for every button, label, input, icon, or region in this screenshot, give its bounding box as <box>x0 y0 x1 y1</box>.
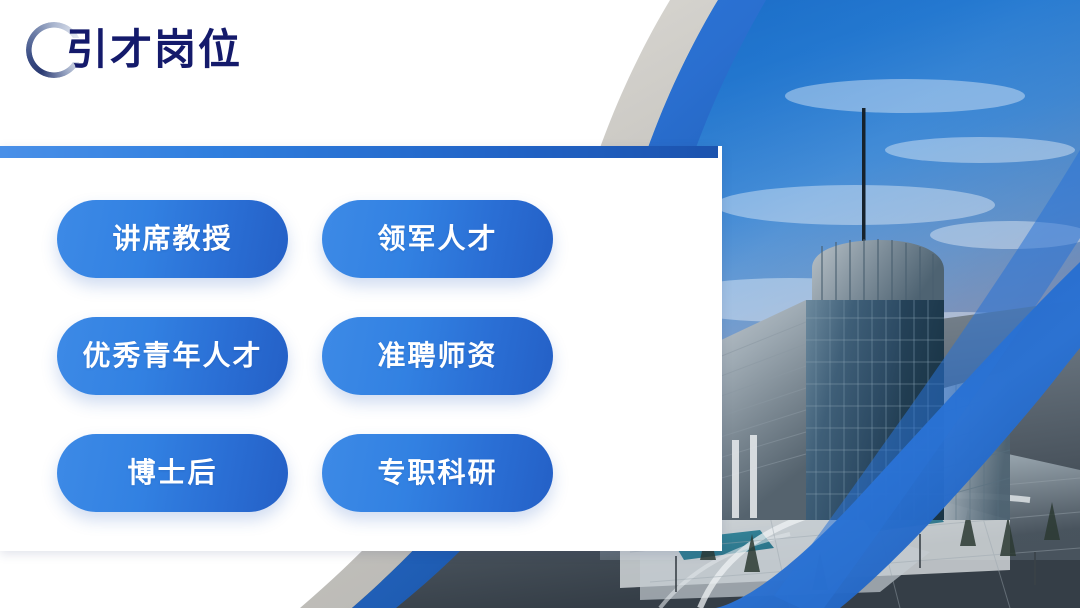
brand-lockup: 引才岗位 <box>26 18 242 82</box>
position-tag-postdoc[interactable]: 博士后 <box>57 434 288 512</box>
position-tag-label: 优秀青年人才 <box>82 342 262 370</box>
position-tag-label: 专职科研 <box>377 459 497 487</box>
position-tag-grid: 讲席教授 领军人才 优秀青年人才 准聘师资 博士后 专职科研 <box>57 200 553 512</box>
content-card: 讲席教授 领军人才 优秀青年人才 准聘师资 博士后 专职科研 <box>0 146 722 551</box>
slide-header: 引才岗位 <box>0 0 740 146</box>
slide-canvas: 引才岗位 讲席教授 领军人才 优秀青年人才 准聘师资 博士后 专职科研 <box>0 0 1080 608</box>
position-tag-leading-talent[interactable]: 领军人才 <box>322 200 553 278</box>
position-tag-label: 讲席教授 <box>112 225 232 253</box>
position-tag-outstanding-young-talent[interactable]: 优秀青年人才 <box>57 317 288 395</box>
position-tag-label: 领军人才 <box>377 225 497 253</box>
position-tag-full-time-research[interactable]: 专职科研 <box>322 434 553 512</box>
position-tag-chair-professor[interactable]: 讲席教授 <box>57 200 288 278</box>
position-tag-label: 准聘师资 <box>377 342 497 370</box>
photo-sweep-arc <box>716 262 1080 608</box>
accent-divider-bar <box>0 146 718 158</box>
position-tag-tenure-track-faculty[interactable]: 准聘师资 <box>322 317 553 395</box>
secondary-blue-arc <box>774 150 1080 608</box>
position-tag-label: 博士后 <box>127 459 217 487</box>
page-title: 引才岗位 <box>66 29 242 71</box>
